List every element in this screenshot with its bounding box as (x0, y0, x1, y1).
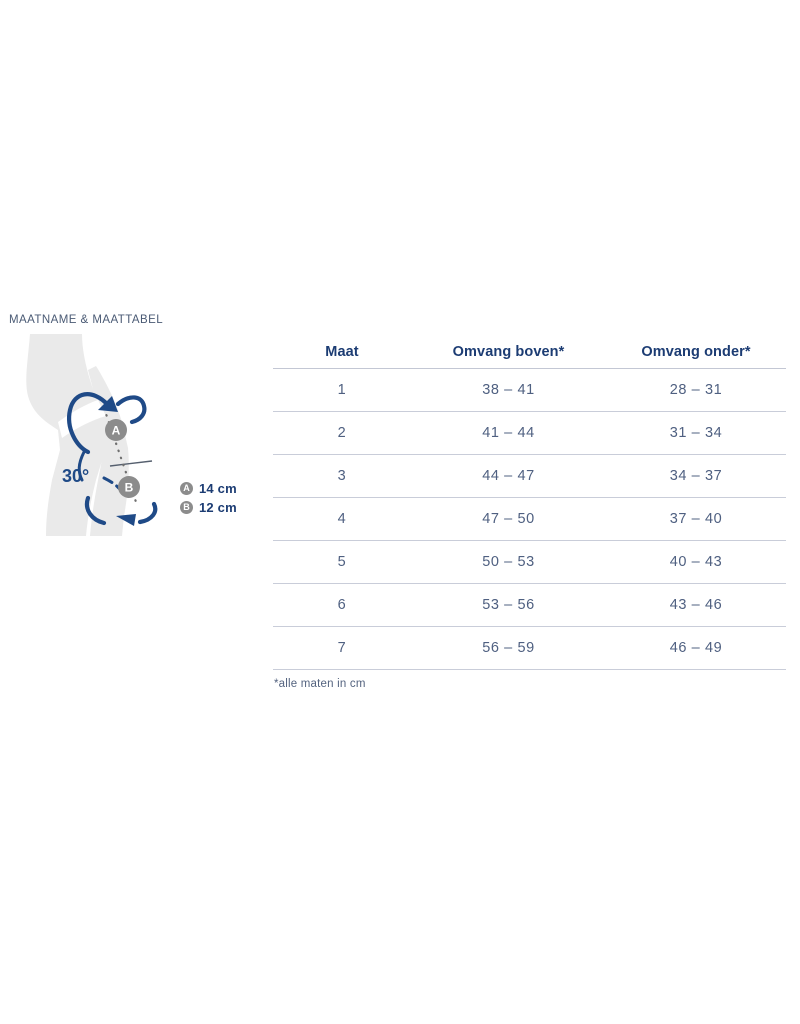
cell-lower: 37 – 40 (606, 498, 786, 541)
cell-lower: 28 – 31 (606, 369, 786, 412)
legend-item-a: A 14 cm (180, 480, 275, 497)
table-footnote: *alle maten in cm (274, 678, 366, 690)
table-row: 6 53 – 56 43 – 46 (273, 584, 786, 627)
cell-lower: 34 – 37 (606, 455, 786, 498)
measurement-legend: A 14 cm B 12 cm (180, 480, 275, 518)
legend-label-a: 14 cm (199, 481, 237, 496)
cell-lower: 46 – 49 (606, 627, 786, 670)
legend-badge-a-icon: A (180, 482, 193, 495)
cell-size: 4 (273, 498, 411, 541)
page-canvas: MAATNAME & MAATTABEL (0, 0, 800, 1024)
cell-upper: 53 – 56 (411, 584, 606, 627)
cell-upper: 50 – 53 (411, 541, 606, 584)
table-header-row: Maat Omvang boven* Omvang onder* (273, 344, 786, 369)
svg-text:B: B (125, 481, 134, 495)
legend-badge-b-icon: B (180, 501, 193, 514)
table-row: 1 38 – 41 28 – 31 (273, 369, 786, 412)
column-header-upper: Omvang boven* (411, 344, 606, 369)
column-header-lower: Omvang onder* (606, 344, 786, 369)
table-body: 1 38 – 41 28 – 31 2 41 – 44 31 – 34 3 44… (273, 369, 786, 670)
cell-upper: 56 – 59 (411, 627, 606, 670)
table-row: 3 44 – 47 34 – 37 (273, 455, 786, 498)
cell-upper: 47 – 50 (411, 498, 606, 541)
cell-size: 2 (273, 412, 411, 455)
page-title: MAATNAME & MAATTABEL (9, 314, 163, 326)
table-row: 7 56 – 59 46 – 49 (273, 627, 786, 670)
marker-b: B (118, 476, 140, 498)
svg-text:A: A (112, 424, 121, 438)
size-chart-table: Maat Omvang boven* Omvang onder* 1 38 – … (273, 344, 786, 670)
angle-label: 30° (62, 466, 89, 486)
cell-lower: 31 – 34 (606, 412, 786, 455)
table-row: 4 47 – 50 37 – 40 (273, 498, 786, 541)
legend-item-b: B 12 cm (180, 499, 275, 516)
cell-upper: 41 – 44 (411, 412, 606, 455)
table-row: 5 50 – 53 40 – 43 (273, 541, 786, 584)
cell-size: 3 (273, 455, 411, 498)
cell-lower: 40 – 43 (606, 541, 786, 584)
cell-size: 1 (273, 369, 411, 412)
marker-a: A (105, 419, 127, 441)
cell-size: 7 (273, 627, 411, 670)
cell-lower: 43 – 46 (606, 584, 786, 627)
cell-size: 6 (273, 584, 411, 627)
cell-upper: 44 – 47 (411, 455, 606, 498)
cell-size: 5 (273, 541, 411, 584)
cell-upper: 38 – 41 (411, 369, 606, 412)
legend-label-b: 12 cm (199, 500, 237, 515)
table-row: 2 41 – 44 31 – 34 (273, 412, 786, 455)
column-header-size: Maat (273, 344, 411, 369)
